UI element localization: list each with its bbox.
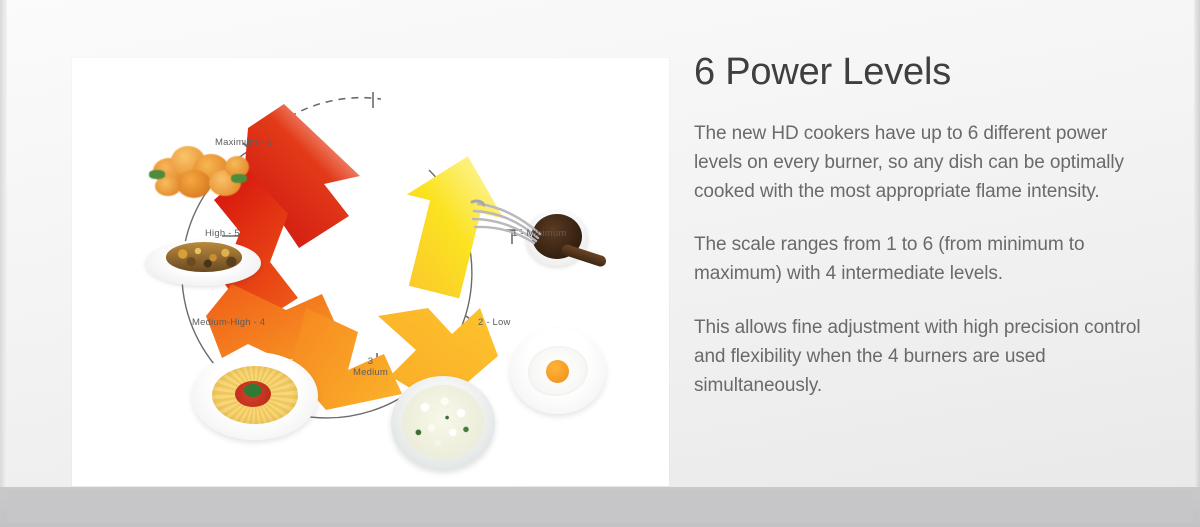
whisk-icon — [470, 198, 548, 248]
dial-label-low-2: 2 - Low — [478, 317, 511, 328]
right-edge-strip — [1194, 0, 1200, 527]
food-image-fried-food — [147, 140, 252, 202]
bottom-band-inner — [7, 491, 1193, 523]
slide-canvas: Maximum - 6 High - 5 Medium-High - 4 3 M… — [0, 0, 1200, 527]
food-image-pasta-plate — [192, 346, 318, 446]
dial-label-medium-high-4: Medium-High - 4 — [192, 317, 265, 328]
dial-label-medium-number: 3 — [353, 356, 388, 367]
dial-label-minimum-1: 1 - Minimum — [512, 228, 566, 239]
paragraph-3: This allows fine adjustment with high pr… — [694, 314, 1146, 401]
food-image-rice-bowl — [391, 376, 495, 472]
paragraph-2: The scale ranges from 1 to 6 (from minim… — [694, 231, 1146, 289]
diagram-panel: Maximum - 6 High - 5 Medium-High - 4 3 M… — [72, 58, 669, 486]
paragraph-1: The new HD cookers have up to 6 differen… — [694, 120, 1146, 207]
food-image-vegetable-plate — [145, 230, 261, 288]
vegetable-heap — [166, 242, 242, 272]
dial-label-medium-3: 3 Medium — [353, 356, 388, 378]
food-image-fried-egg — [510, 328, 606, 416]
text-column: 6 Power Levels The new HD cookers have u… — [694, 52, 1146, 401]
bottom-band — [0, 487, 1200, 527]
page-title: 6 Power Levels — [694, 52, 1146, 94]
dial-label-medium-word: Medium — [353, 367, 388, 378]
dial-label-high-5: High - 5 — [205, 228, 240, 239]
left-edge-strip — [0, 0, 7, 527]
rice — [402, 385, 484, 459]
dial-label-maximum-6: Maximum - 6 — [215, 137, 272, 148]
basil-leaf — [244, 384, 262, 397]
egg-yolk — [546, 360, 569, 383]
